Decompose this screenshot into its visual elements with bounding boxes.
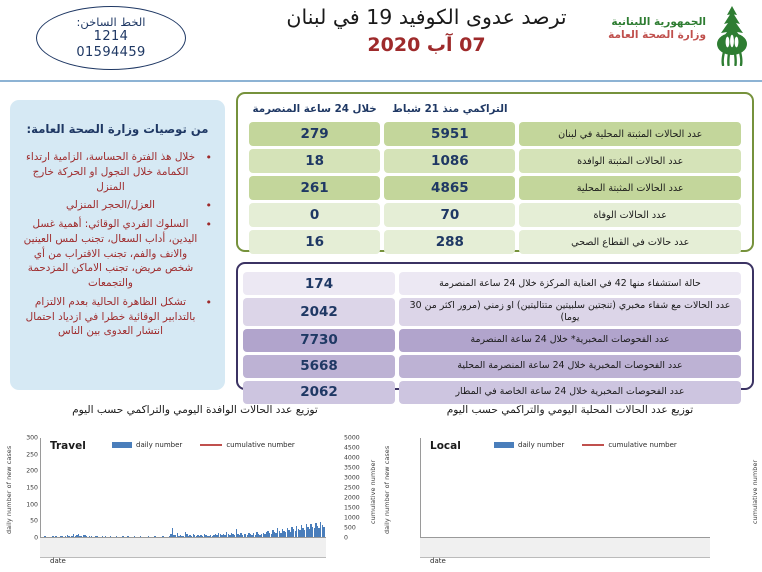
cedar-tree-logo [706, 4, 758, 66]
recommendations-title: من توصيات وزارة الصحة العامة: [19, 122, 216, 136]
legend-daily-label: daily number [518, 441, 564, 449]
table-header-row: التراكمي منذ 21 شباط خلال 24 ساعة المنصر… [249, 102, 741, 119]
legend-cumulative-label: cumulative number [608, 441, 676, 449]
title-block: ترصد عدوى الكوفيد 19 في لبنان 07 آب 2020 [219, 4, 634, 56]
travel-x-ticks [40, 538, 326, 558]
legend-bar-swatch [112, 442, 132, 448]
table-row: عدد الحالات المثبتة الوافدة 1086 18 [249, 149, 741, 173]
row-last24h: 0 [249, 203, 380, 227]
hotline-number-full: 01594459 [76, 45, 145, 61]
list-item: السلوك الفردي الوقائي: أهمية غسل اليدين،… [21, 217, 200, 291]
recovery-tests-table: حالة استشفاء منها 42 في العناية المركزة … [236, 262, 754, 390]
recommendations-panel: من توصيات وزارة الصحة العامة: خلال هذ ال… [10, 100, 225, 390]
row-cumulative: 70 [384, 203, 515, 227]
table-row: عدد الفحوصات المخبرية* خلال 24 ساعة المن… [243, 329, 741, 352]
green-header-blank [519, 102, 741, 119]
y2-tick-label: 4000 [344, 455, 360, 462]
row-cumulative: 1086 [384, 149, 515, 173]
green-header-cumulative: التراكمي منذ 21 شباط [384, 102, 515, 119]
row-last24h: 279 [249, 122, 380, 146]
table-row: عدد الفحوصات المخبرية خلال 24 ساعة المنص… [243, 355, 741, 378]
y2-tick-label: 2000 [344, 495, 360, 502]
local-x-axis-label: date [430, 557, 446, 565]
legend-bar-swatch [494, 442, 514, 448]
y2-tick-label: 0 [344, 535, 348, 542]
y2-tick-label: 4500 [344, 445, 360, 452]
local-y2-axis-ticks [726, 438, 752, 538]
local-plot-area [420, 438, 710, 538]
list-item: العزل/الحجر المنزلي [21, 198, 200, 213]
travel-y2-axis-label: cumulative number [369, 442, 377, 542]
legend-line-swatch [582, 444, 604, 446]
y2-tick-label: 1500 [344, 505, 360, 512]
row-label: عدد الحالات المثبتة المحلية [519, 176, 741, 200]
row-value: 2062 [243, 381, 395, 404]
y2-tick-label: 1000 [344, 515, 360, 522]
row-last24h: 18 [249, 149, 380, 173]
legend-cumulative-label: cumulative number [226, 441, 294, 449]
local-x-ticks [420, 538, 710, 558]
green-stats-table: التراكمي منذ 21 شباط خلال 24 ساعة المنصر… [245, 99, 745, 257]
local-cumulative-line [421, 438, 710, 537]
row-label: حالة استشفاء منها 42 في العناية المركزة … [399, 272, 741, 295]
local-chart: daily number of new cases cumulative num… [382, 424, 760, 570]
y-tick-label: 200 [26, 468, 38, 475]
travel-y2-axis-ticks: 0500100015002000250030003500400045005000 [344, 438, 370, 538]
recommendations-list: خلال هذ الفترة الحساسة، الزامية ارتداء ا… [19, 150, 216, 339]
table-row: عدد الحالات المثبتة المحلية في لبنان 595… [249, 122, 741, 146]
table-row: حالة استشفاء منها 42 في العناية المركزة … [243, 272, 741, 295]
header-divider [0, 80, 762, 82]
row-cumulative: 5951 [384, 122, 515, 146]
y-tick-label: 300 [26, 435, 38, 442]
local-y-axis-ticks [390, 438, 416, 538]
y2-tick-label: 3500 [344, 465, 360, 472]
travel-chart-title: Travel [50, 440, 86, 452]
travel-chart-caption: توزيع عدد الحالات الوافدة اليومي والتراك… [10, 404, 380, 416]
y-tick-label: 50 [30, 518, 38, 525]
row-last24h: 261 [249, 176, 380, 200]
table-row: عدد الحالات المثبتة المحلية 4865 261 [249, 176, 741, 200]
row-cumulative: 288 [384, 230, 515, 254]
row-label: عدد الحالات مع شفاء مخبري (تنجتين سلبيتي… [399, 298, 741, 326]
y-tick-label: 250 [26, 451, 38, 458]
confirmed-cases-table: التراكمي منذ 21 شباط خلال 24 ساعة المنصر… [236, 92, 754, 252]
y2-tick-label: 500 [344, 525, 356, 532]
table-row: عدد الفحوصات المخبرية خلال 24 ساعة الخاص… [243, 381, 741, 404]
travel-month-band [40, 558, 326, 571]
y2-tick-label: 5000 [344, 435, 360, 442]
local-chart-title: Local [430, 440, 461, 452]
travel-y-axis-ticks: 050100150200250300 [12, 438, 38, 538]
travel-cumulative-line [41, 438, 326, 537]
list-item: تشكل الظاهرة الحالية بعدم الالتزام بالتد… [21, 295, 200, 339]
list-item: خلال هذ الفترة الحساسة، الزامية ارتداء ا… [21, 150, 200, 194]
ministry-wordmark: الجمهورية اللبنانية وزارة الصحة العامة [608, 16, 706, 42]
ministry-label: وزارة الصحة العامة [608, 29, 706, 42]
page-header: الخط الساخن: 1214 01594459 ترصد عدوى الك… [0, 0, 762, 80]
row-value: 2042 [243, 298, 395, 326]
legend-daily-label: daily number [136, 441, 182, 449]
row-value: 5668 [243, 355, 395, 378]
page-title: ترصد عدوى الكوفيد 19 في لبنان [219, 4, 634, 32]
dashboard-page: الخط الساخن: 1214 01594459 ترصد عدوى الك… [0, 0, 762, 572]
y2-tick-label: 2500 [344, 485, 360, 492]
green-header-24h: خلال 24 ساعة المنصرمة [249, 102, 380, 119]
row-label: عدد الفحوصات المخبرية خلال 24 ساعة الخاص… [399, 381, 741, 404]
local-y2-axis-label: cumulative number [751, 442, 759, 542]
row-label: عدد الحالات المثبتة الوافدة [519, 149, 741, 173]
travel-legend: daily number cumulative number [112, 441, 295, 449]
y-tick-label: 150 [26, 485, 38, 492]
y2-tick-label: 3000 [344, 475, 360, 482]
travel-x-axis-label: date [50, 557, 66, 565]
row-label: عدد حالات في القطاع الصحي [519, 230, 741, 254]
hotline-badge: الخط الساخن: 1214 01594459 [36, 6, 186, 70]
table-row: عدد الحالات الوفاة 70 0 [249, 203, 741, 227]
row-cumulative: 4865 [384, 176, 515, 200]
row-value: 174 [243, 272, 395, 295]
hotline-label: الخط الساخن: [77, 15, 146, 29]
row-value: 7730 [243, 329, 395, 352]
travel-plot-area [40, 438, 326, 538]
report-date: 07 آب 2020 [219, 34, 634, 56]
purple-stats-table: حالة استشفاء منها 42 في العناية المركزة … [239, 269, 745, 407]
local-legend: daily number cumulative number [494, 441, 677, 449]
local-chart-caption: توزيع عدد الحالات المحلية اليومي والتراك… [385, 404, 755, 416]
table-row: عدد الحالات مع شفاء مخبري (تنجتين سلبيتي… [243, 298, 741, 326]
travel-chart: daily number of new cases cumulative num… [4, 424, 378, 570]
y-tick-label: 0 [34, 535, 38, 542]
y-tick-label: 100 [26, 501, 38, 508]
row-label: عدد الفحوصات المخبرية* خلال 24 ساعة المن… [399, 329, 741, 352]
row-last24h: 16 [249, 230, 380, 254]
local-month-band [420, 558, 710, 571]
table-row: عدد حالات في القطاع الصحي 288 16 [249, 230, 741, 254]
row-label: عدد الحالات المثبتة المحلية في لبنان [519, 122, 741, 146]
republic-label: الجمهورية اللبنانية [608, 16, 706, 29]
legend-line-swatch [200, 444, 222, 446]
hotline-number-short: 1214 [94, 29, 129, 45]
row-label: عدد الحالات الوفاة [519, 203, 741, 227]
row-label: عدد الفحوصات المخبرية خلال 24 ساعة المنص… [399, 355, 741, 378]
